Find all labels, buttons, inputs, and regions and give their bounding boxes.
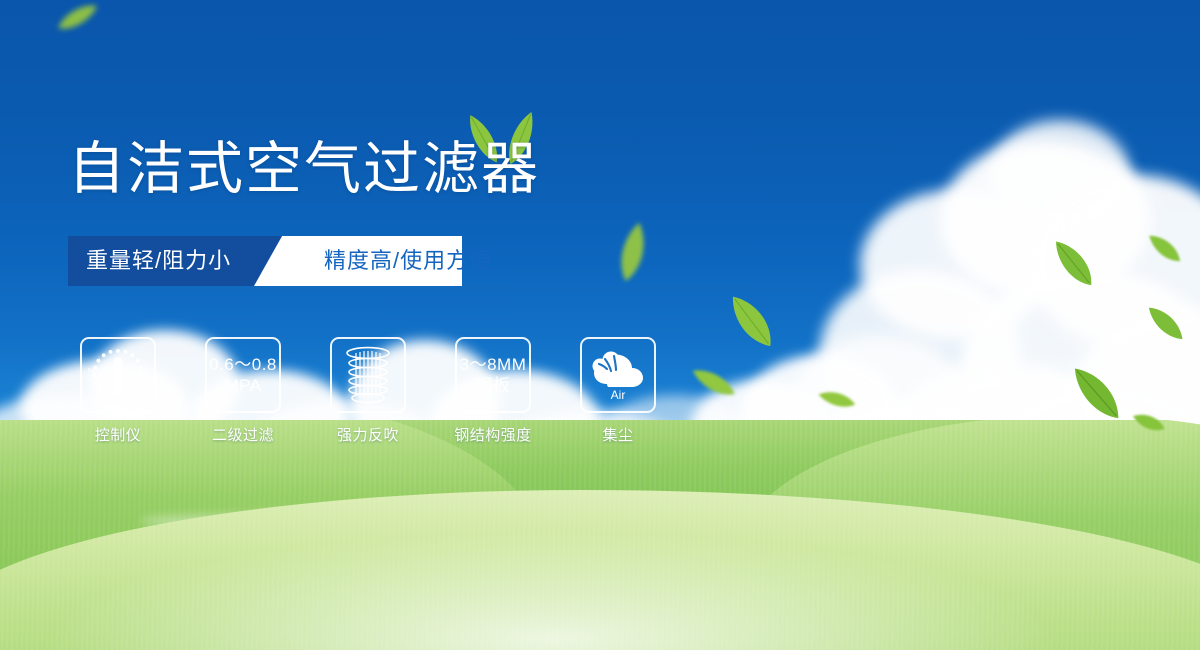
feature-icon-box	[330, 337, 406, 413]
steel-value-line1: 3～8MM	[460, 354, 527, 375]
air-cloud-icon: Air	[587, 346, 649, 404]
feature-list: NO OFF 控制仪 0.6～0.8 MPA 二级过滤	[80, 337, 700, 447]
slogan-badge: 重量轻/阻力小 精度高/使用方便	[68, 236, 462, 286]
feature-icon-box: Air	[580, 337, 656, 413]
slogan-text-right: 精度高/使用方便	[324, 236, 492, 286]
banner-content: 自洁式空气过滤器 重量轻/阻力小 精度高/使用方便	[0, 0, 1200, 650]
feature-item-controller[interactable]: NO OFF 控制仪	[80, 337, 156, 445]
feature-icon-box: 3～8MM 钢板	[455, 337, 531, 413]
filter-cartridge-icon	[342, 346, 394, 404]
pressure-value-line1: 0.6～0.8	[209, 354, 277, 375]
feature-item-two-stage-filter[interactable]: 0.6～0.8 MPA 二级过滤	[205, 337, 281, 445]
pressure-value-line2: MPA	[209, 375, 277, 396]
steel-value-line2: 钢板	[460, 375, 527, 396]
steel-text-icon: 3～8MM 钢板	[460, 354, 527, 396]
feature-item-steel-strength[interactable]: 3～8MM 钢板 钢结构强度	[455, 337, 531, 445]
promo-banner: 自洁式空气过滤器 重量轻/阻力小 精度高/使用方便	[0, 0, 1200, 650]
feature-label: 二级过滤	[205, 424, 281, 445]
feature-item-reverse-blow[interactable]: 强力反吹	[330, 337, 406, 445]
feature-label: 钢结构强度	[437, 424, 549, 445]
feature-icon-box: NO OFF	[80, 337, 156, 413]
pressure-text-icon: 0.6～0.8 MPA	[209, 354, 277, 396]
feature-item-dust-collection[interactable]: Air 集尘	[580, 337, 656, 445]
svg-text:NO: NO	[88, 368, 99, 375]
air-cloud-icon-label: Air	[611, 388, 626, 402]
feature-icon-box: 0.6～0.8 MPA	[205, 337, 281, 413]
slogan-text-left: 重量轻/阻力小	[86, 236, 231, 286]
svg-text:OFF: OFF	[130, 397, 142, 403]
feature-label: 强力反吹	[330, 424, 406, 445]
gauge-switch-icon: NO OFF	[85, 342, 151, 408]
feature-label: 控制仪	[80, 424, 156, 445]
page-title: 自洁式空气过滤器	[68, 140, 540, 200]
feature-label: 集尘	[580, 424, 656, 445]
